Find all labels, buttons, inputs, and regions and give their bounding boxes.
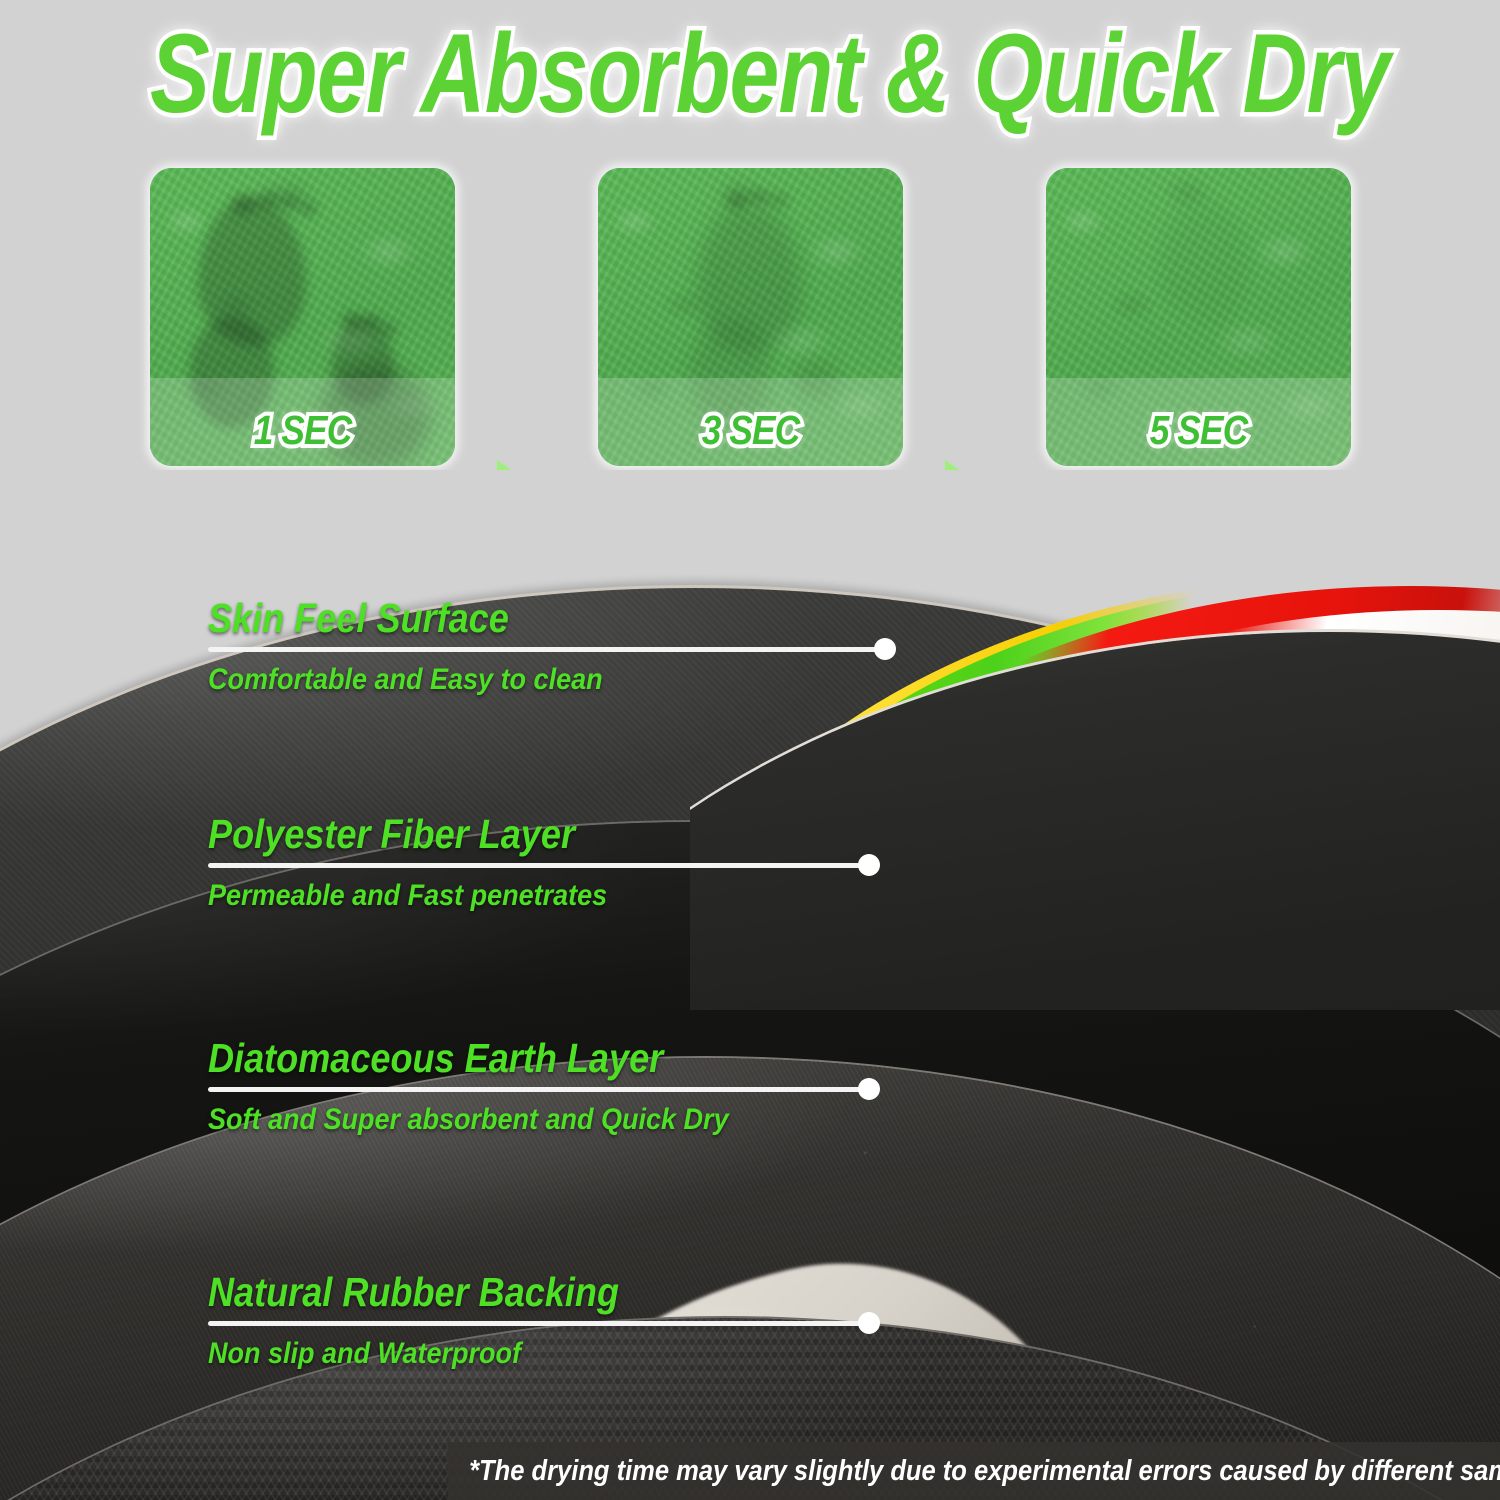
page-title: Super Absorbent & Quick Dry bbox=[150, 14, 1350, 134]
footprint-toe bbox=[750, 189, 770, 204]
demo-panel-label: 1 SEC bbox=[171, 408, 433, 452]
disclaimer-text: *The drying time may vary slightly due t… bbox=[448, 1455, 1500, 1487]
callout-leader-line bbox=[208, 1321, 874, 1326]
demo-panel-label: 3 SEC bbox=[619, 408, 881, 452]
footprint-toe bbox=[364, 314, 381, 329]
infographic-root: Super Absorbent & Quick Dry 1 SEC bbox=[0, 0, 1500, 1500]
callout-skin-feel-surface: Skin Feel Surface Comfortable and Easy t… bbox=[208, 596, 884, 697]
footprint-toe bbox=[280, 194, 300, 211]
callout-leader-line bbox=[208, 647, 884, 652]
callout-subtitle: Non slip and Waterproof bbox=[208, 1337, 807, 1371]
footprint-toe bbox=[771, 193, 789, 207]
footprint-toe bbox=[342, 312, 362, 329]
footprint-toe bbox=[232, 194, 256, 214]
callout-endpoint-dot bbox=[858, 1312, 880, 1334]
footprint-toe bbox=[382, 322, 397, 336]
callout-title: Natural Rubber Backing bbox=[208, 1270, 794, 1314]
callout-polyester-fiber-layer: Polyester Fiber Layer Permeable and Fast… bbox=[208, 812, 874, 913]
callout-leader-line bbox=[208, 863, 874, 868]
footprint-toe bbox=[258, 190, 280, 208]
callout-leader-line bbox=[208, 1087, 874, 1092]
callout-subtitle: Comfortable and Easy to clean bbox=[208, 663, 816, 697]
callout-endpoint-dot bbox=[858, 1078, 880, 1100]
callout-subtitle: Soft and Super absorbent and Quick Dry bbox=[208, 1103, 807, 1137]
absorption-demo-row: 1 SEC 3 SEC 5 SEC bbox=[0, 168, 1500, 468]
disclaimer-bar: *The drying time may vary slightly due t… bbox=[448, 1442, 1500, 1500]
footprint-toe bbox=[726, 192, 748, 209]
printed-mat-edge bbox=[690, 470, 1500, 1010]
callout-subtitle: Permeable and Fast penetrates bbox=[208, 879, 807, 913]
callout-title: Diatomaceous Earth Layer bbox=[208, 1036, 794, 1080]
callout-natural-rubber-backing: Natural Rubber Backing Non slip and Wate… bbox=[208, 1270, 874, 1371]
callout-endpoint-dot bbox=[874, 638, 896, 660]
callout-diatomaceous-earth-layer: Diatomaceous Earth Layer Soft and Super … bbox=[208, 1036, 874, 1137]
demo-panel-3-sec: 3 SEC bbox=[598, 168, 903, 466]
demo-panel-5-sec: 5 SEC bbox=[1046, 168, 1351, 466]
callout-title: Polyester Fiber Layer bbox=[208, 812, 794, 856]
callout-title: Skin Feel Surface bbox=[208, 596, 803, 640]
demo-panel-1-sec: 1 SEC bbox=[150, 168, 455, 466]
demo-panel-label: 5 SEC bbox=[1067, 408, 1329, 452]
callout-endpoint-dot bbox=[858, 854, 880, 876]
footprint-toe bbox=[300, 201, 317, 216]
